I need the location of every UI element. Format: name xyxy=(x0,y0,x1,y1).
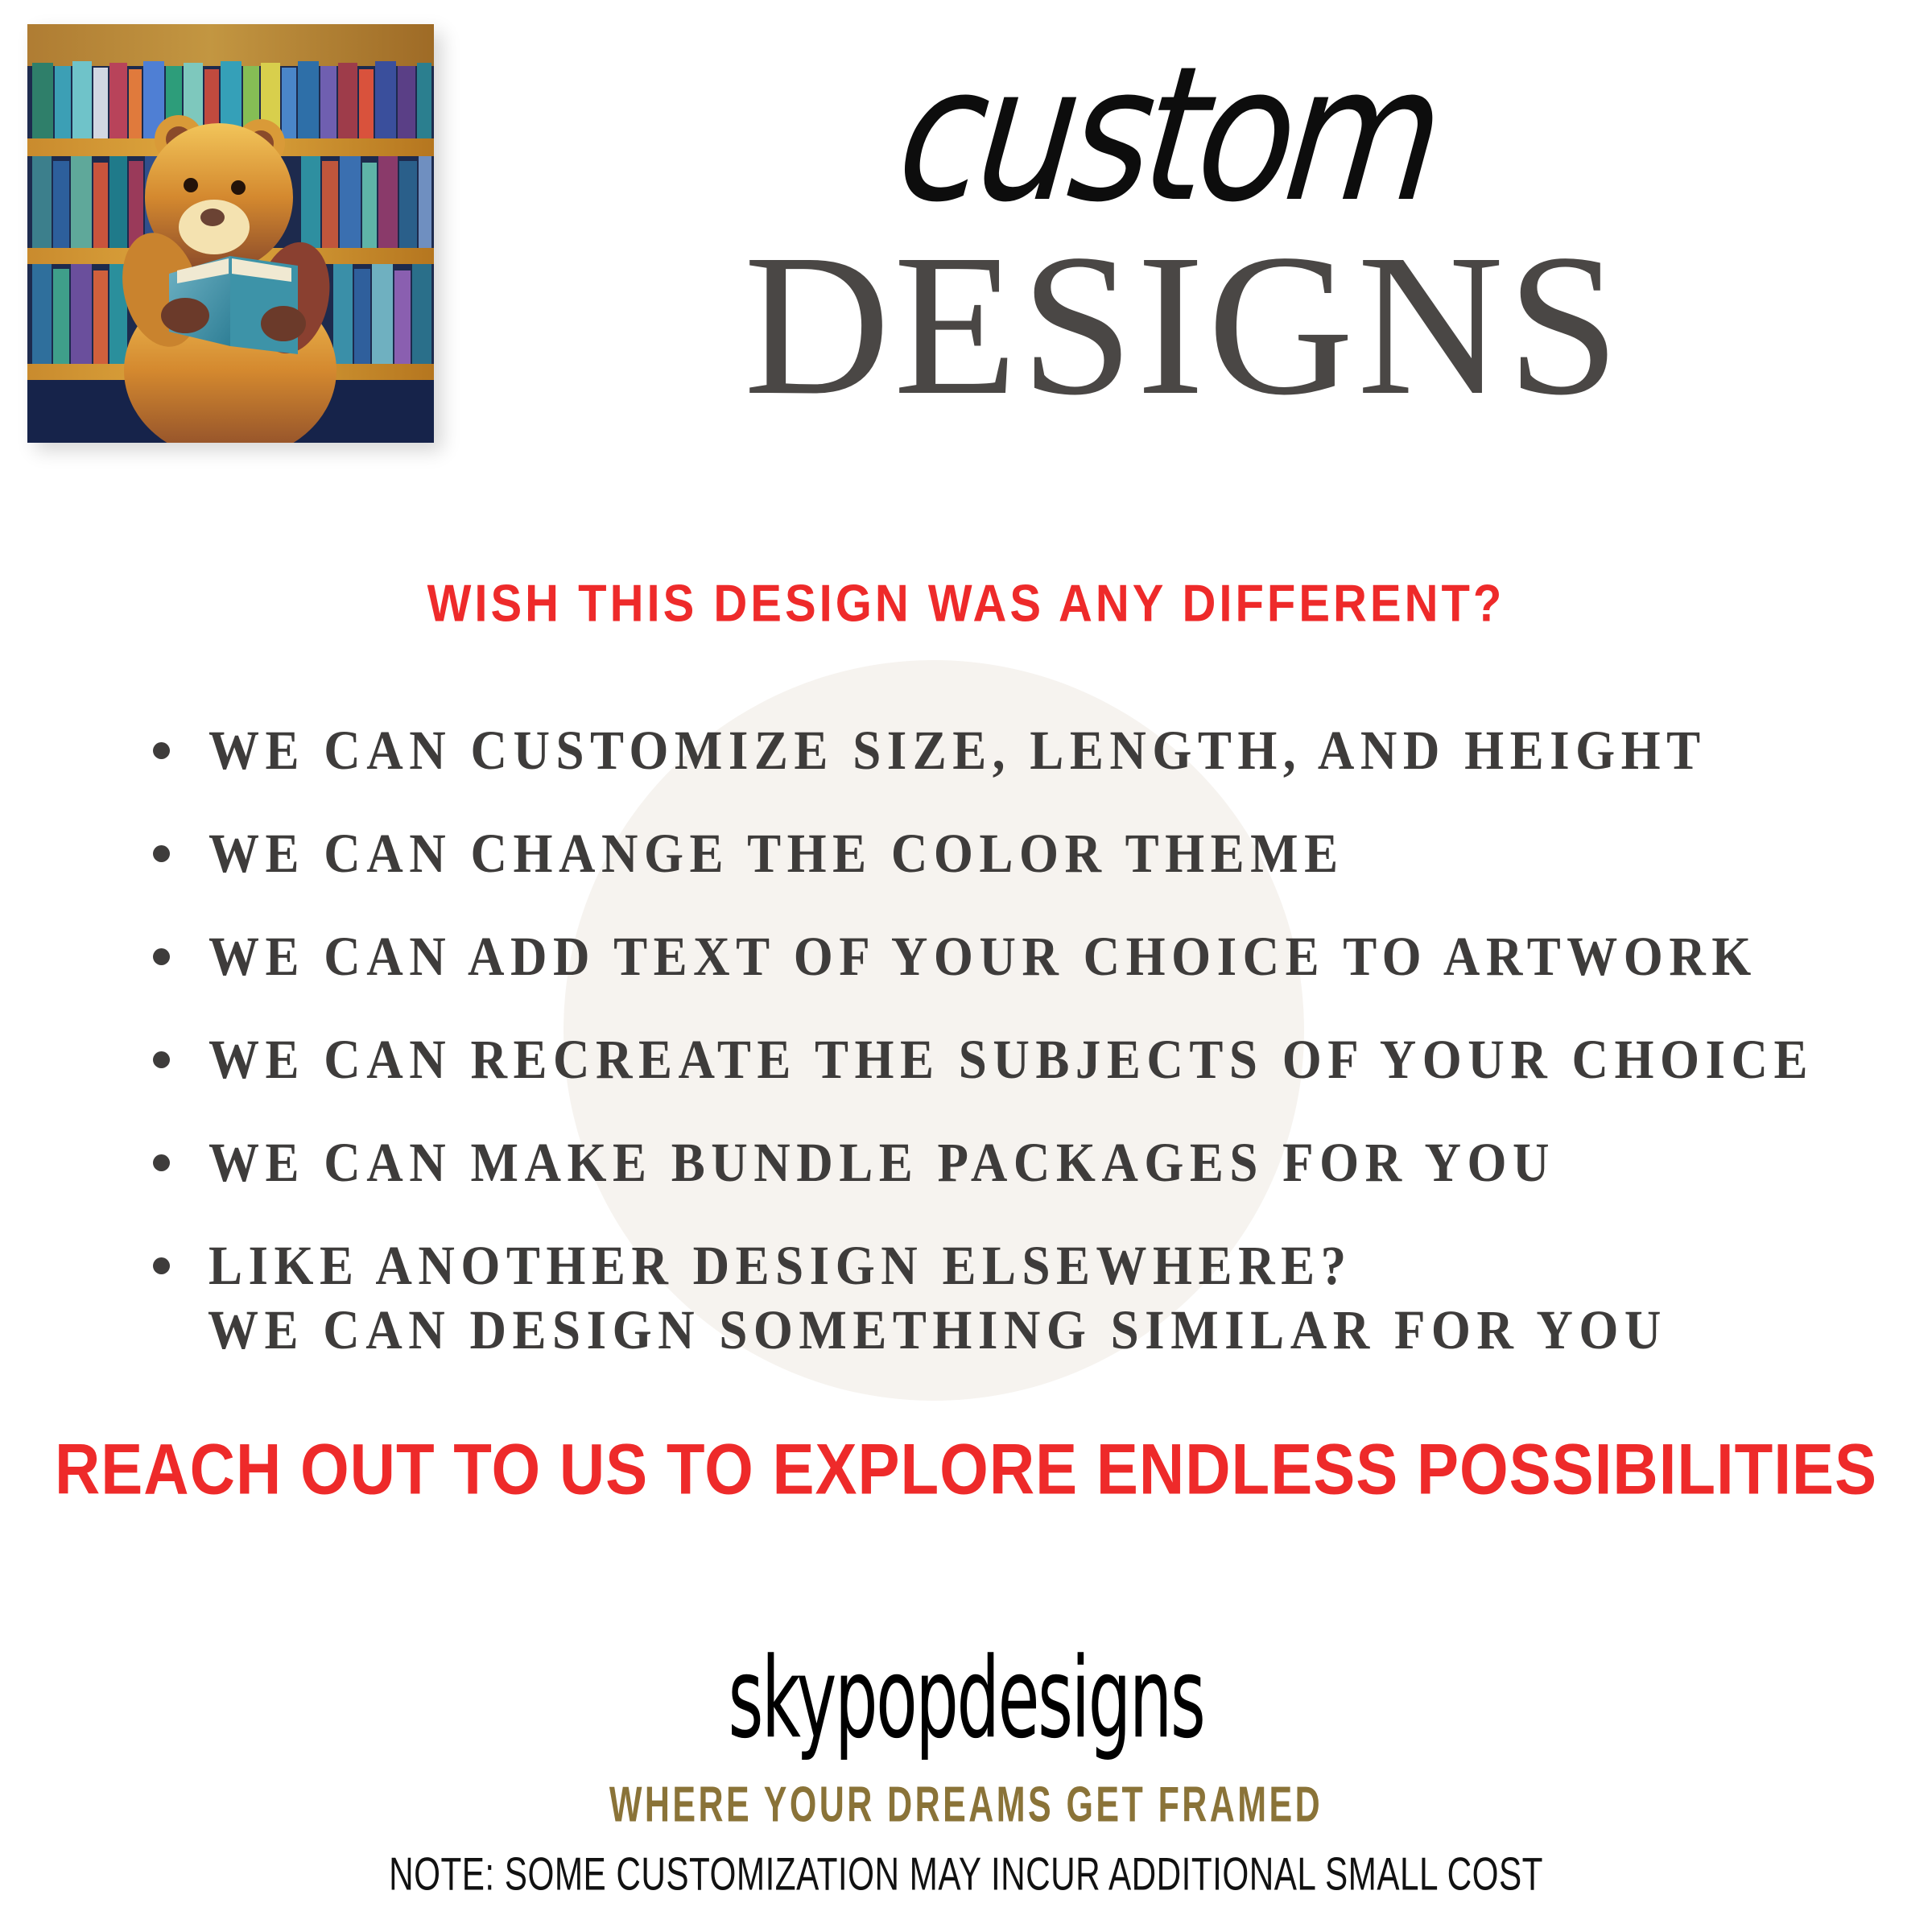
feature-text: LIKE ANOTHER DESIGN ELSEWHERE? xyxy=(208,1233,1352,1298)
title-script-word: custom xyxy=(891,42,1476,228)
header-block: custom DESIGNS xyxy=(435,56,1932,421)
product-artwork-thumbnail[interactable] xyxy=(27,24,434,443)
list-item: WE CAN MAKE BUNDLE PACKAGES FOR YOU xyxy=(153,1111,1860,1214)
footer-note: NOTE: SOME CUSTOMIZATION MAY INCUR ADDIT… xyxy=(97,1847,1835,1901)
brand-logo-text: skypopdesigns xyxy=(213,1635,1719,1764)
bear-reading-painting-icon xyxy=(27,24,434,443)
brand-tagline: WHERE YOUR DREAMS GET FRAMED xyxy=(135,1775,1797,1834)
feature-text: WE CAN CUSTOMIZE SIZE, LENGTH, AND HEIGH… xyxy=(208,718,1707,782)
feature-text: WE CAN ADD TEXT OF YOUR CHOICE TO ARTWOR… xyxy=(208,924,1757,989)
list-item: WE CAN RECREATE THE SUBJECTS OF YOUR CHO… xyxy=(153,1008,1860,1111)
feature-text: WE CAN MAKE BUNDLE PACKAGES FOR YOU xyxy=(208,1130,1555,1195)
list-item: WE CAN CHANGE THE COLOR THEME xyxy=(153,802,1860,905)
call-to-action-text: REACH OUT TO US TO EXPLORE ENDLESS POSSI… xyxy=(0,1428,1932,1512)
feature-list: WE CAN CUSTOMIZE SIZE, LENGTH, AND HEIGH… xyxy=(153,699,1860,1317)
bullet-dot-icon xyxy=(153,845,170,862)
subtitle-question: WISH THIS DESIGN WAS ANY DIFFERENT? xyxy=(0,573,1932,634)
feature-continuation-text: WE CAN DESIGN SOMETHING SIMILAR FOR YOU xyxy=(208,1298,1667,1362)
title-serif-word: DESIGNS xyxy=(435,229,1932,421)
bullet-dot-icon xyxy=(153,948,170,965)
feature-text: WE CAN RECREATE THE SUBJECTS OF YOUR CHO… xyxy=(208,1027,1814,1092)
bullet-dot-icon xyxy=(153,1051,170,1068)
list-item: WE CAN CUSTOMIZE SIZE, LENGTH, AND HEIGH… xyxy=(153,699,1860,802)
bullet-dot-icon xyxy=(153,1257,170,1274)
bullet-dot-icon xyxy=(153,742,170,759)
bullet-dot-icon xyxy=(153,1154,170,1171)
list-item: WE CAN ADD TEXT OF YOUR CHOICE TO ARTWOR… xyxy=(153,905,1860,1008)
feature-text: WE CAN CHANGE THE COLOR THEME xyxy=(208,821,1344,885)
